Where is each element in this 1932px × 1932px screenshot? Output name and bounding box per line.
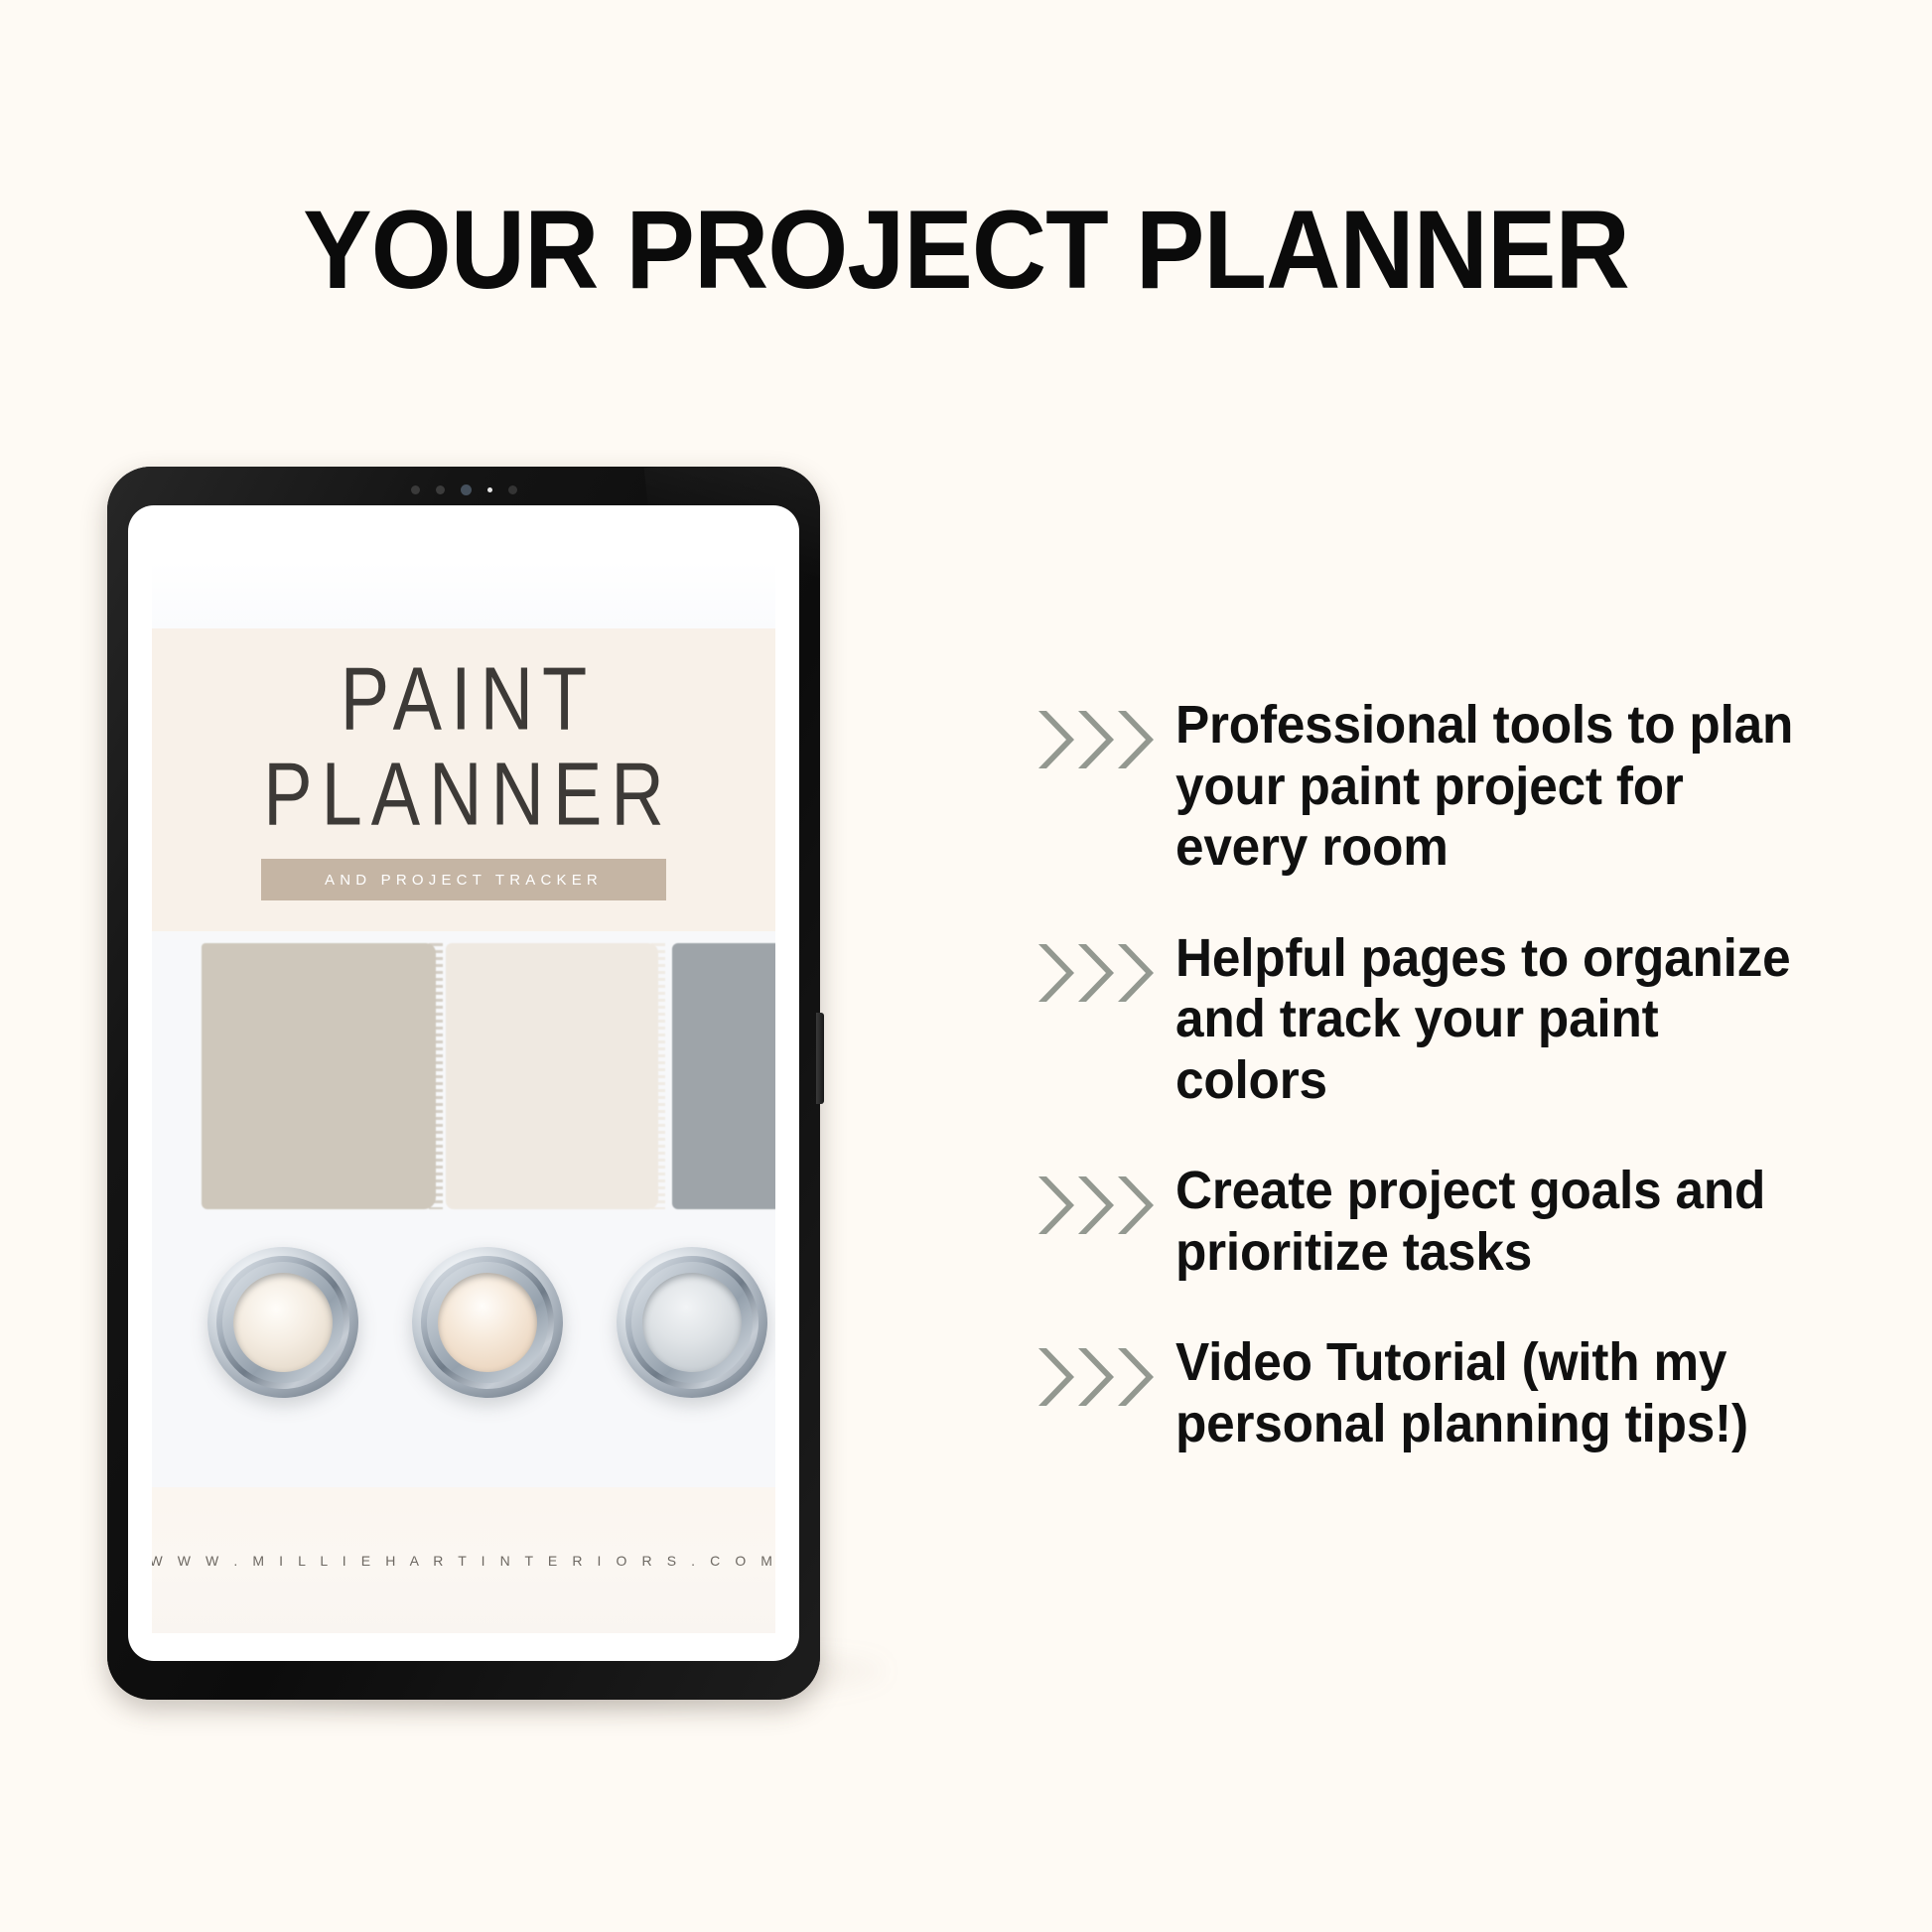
cover-top-margin <box>152 561 775 628</box>
triple-chevron-right-icon <box>1036 928 1175 1004</box>
sensor-dot-2-icon <box>436 485 445 494</box>
benefits-list: Professional tools to plan your paint pr… <box>1036 695 1851 1504</box>
page-title: YOUR PROJECT PLANNER <box>68 195 1864 306</box>
cover-website-url: W W W . M I L L I E H A R T I N T E R I … <box>152 1553 775 1569</box>
benefit-item-video-tutorial: Video Tutorial (with my personal plannin… <box>1036 1332 1851 1454</box>
cover-photo <box>152 931 775 1487</box>
cover-footer: W W W . M I L L I E H A R T I N T E R I … <box>152 1487 775 1633</box>
paint-can-rim <box>418 1253 558 1393</box>
benefit-item-project-goals: Create project goals and prioritize task… <box>1036 1161 1851 1283</box>
tablet-power-button[interactable] <box>816 1013 824 1104</box>
tablet-camera-cluster <box>107 484 820 495</box>
planner-cover: PAINT PLANNER AND PROJECT TRACKER <box>152 561 775 1633</box>
benefit-item-helpful-pages: Helpful pages to organize and track your… <box>1036 928 1851 1112</box>
paint-can-cream <box>203 1242 363 1403</box>
swatch-cool-gray <box>672 943 775 1209</box>
paint-can-rim <box>211 1251 353 1393</box>
paint-can-paint <box>435 1270 539 1374</box>
paint-can-rim <box>618 1248 765 1396</box>
cover-title-line-2: PLANNER <box>263 750 673 839</box>
cover-subtitle-band: AND PROJECT TRACKER <box>261 859 666 900</box>
indicator-dot-icon <box>487 487 492 492</box>
triple-chevron-right-icon <box>1036 1161 1175 1236</box>
front-camera-icon <box>461 484 472 495</box>
cover-title-line-1: PAINT <box>341 654 596 744</box>
paint-can-rim-inner <box>624 1255 759 1390</box>
tablet-screen: PAINT PLANNER AND PROJECT TRACKER <box>128 505 799 1661</box>
paint-can-paint <box>636 1267 747 1377</box>
benefit-item-professional-tools: Professional tools to plan your paint pr… <box>1036 695 1851 879</box>
paint-can-gray <box>608 1238 775 1406</box>
paint-can-beige <box>408 1243 567 1402</box>
paint-can-paint <box>230 1270 337 1376</box>
tablet-mockup: PAINT PLANNER AND PROJECT TRACKER <box>107 467 897 1703</box>
cover-subtitle: AND PROJECT TRACKER <box>325 872 603 889</box>
benefit-text: Video Tutorial (with my personal plannin… <box>1175 1332 1817 1454</box>
paint-can-rim-inner <box>218 1258 347 1387</box>
benefit-text: Helpful pages to organize and track your… <box>1175 928 1817 1112</box>
triple-chevron-right-icon <box>1036 1332 1175 1408</box>
benefit-text: Professional tools to plan your paint pr… <box>1175 695 1817 879</box>
swatch-cream-white <box>446 943 658 1209</box>
sensor-dot-3-icon <box>508 485 517 494</box>
swatch-warm-greige <box>202 943 436 1209</box>
triple-chevron-right-icon <box>1036 695 1175 770</box>
sensor-dot-1-icon <box>411 485 420 494</box>
benefit-text: Create project goals and prioritize task… <box>1175 1161 1817 1283</box>
paint-can-rim-inner <box>424 1259 551 1386</box>
